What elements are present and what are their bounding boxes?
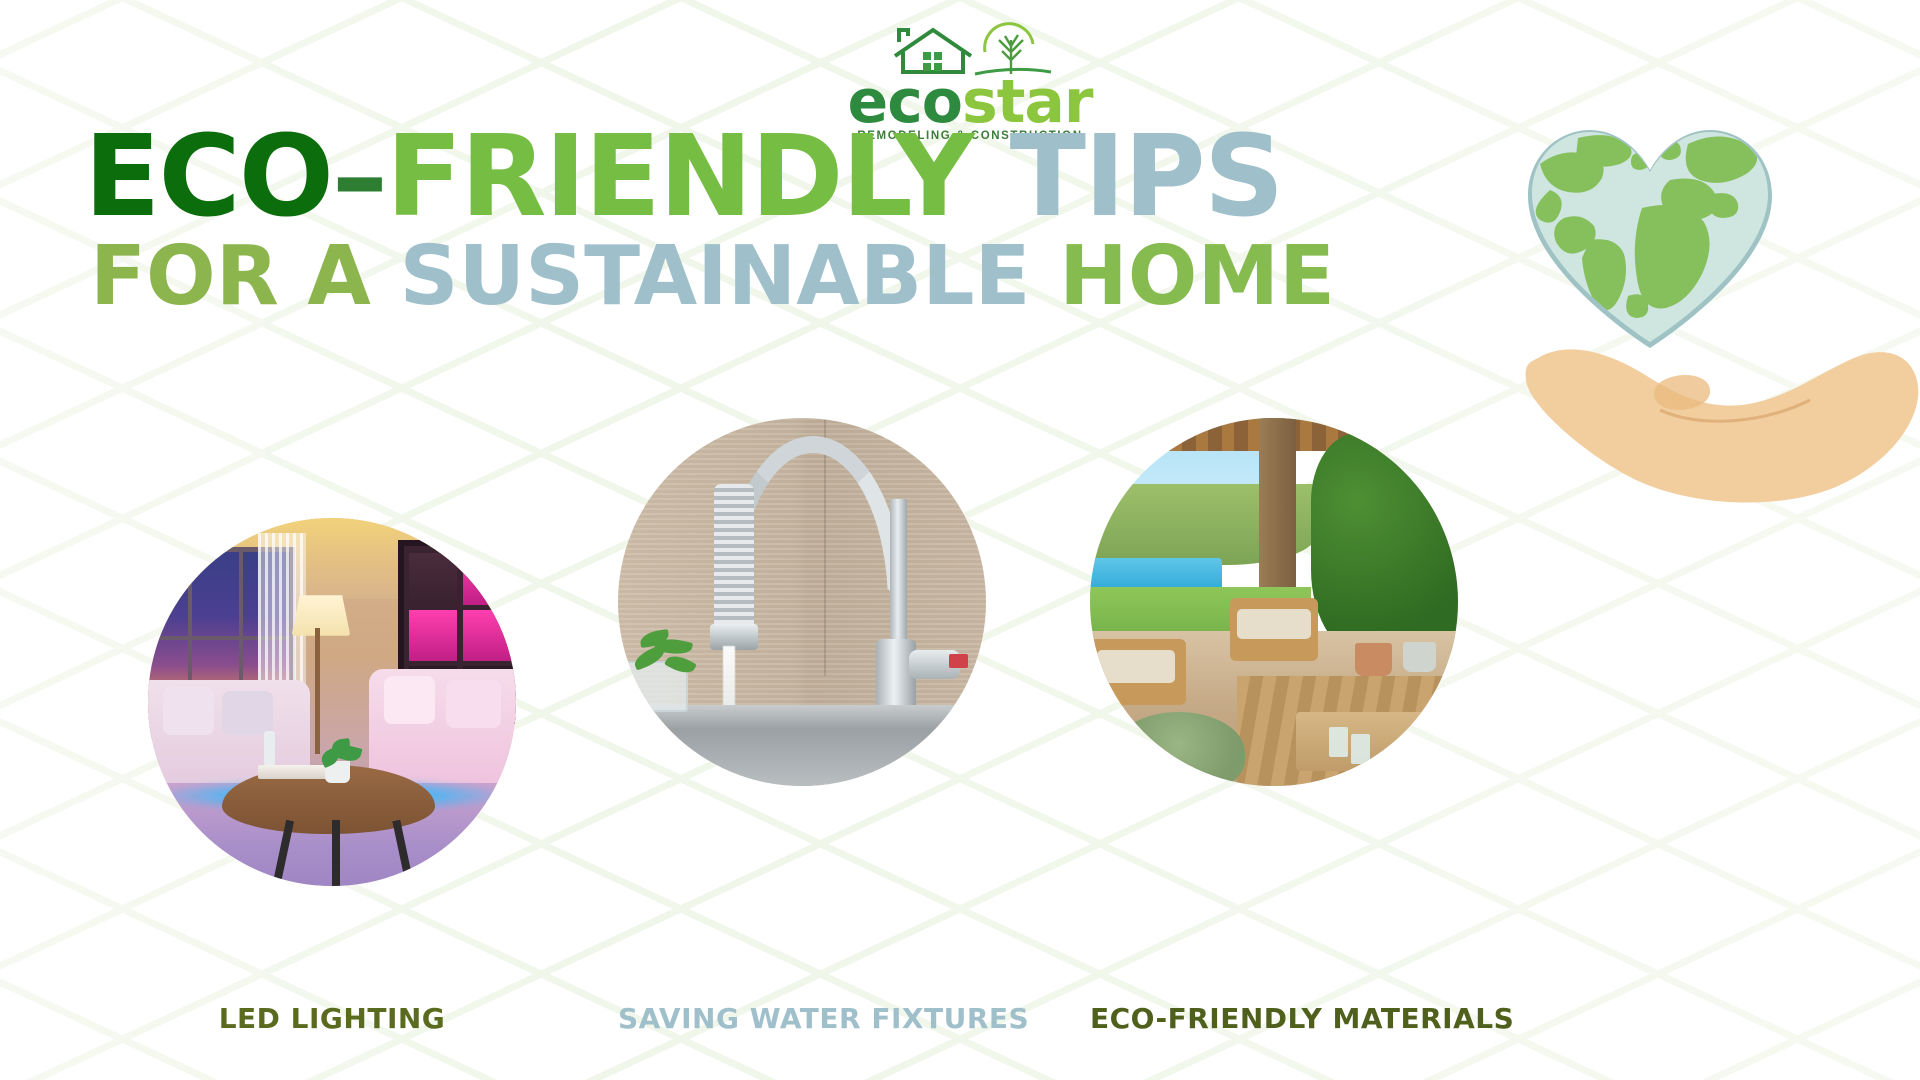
card-image-eco-friendly-materials[interactable] bbox=[1090, 418, 1458, 786]
scene-patio bbox=[1090, 418, 1458, 786]
headline-word-tips: TIPS bbox=[1010, 112, 1283, 242]
headline-line-2: FOR A SUSTAINABLE HOME bbox=[84, 239, 1314, 314]
headline-word-eco: ECO bbox=[84, 112, 332, 242]
headline-word-friendly: FRIENDLY bbox=[386, 112, 973, 242]
caption-saving-water-fixtures: SAVING WATER FIXTURES bbox=[618, 1002, 986, 1035]
headline-word-sustainable: SUSTAINABLE bbox=[399, 229, 1030, 324]
logo-mark bbox=[875, 22, 1065, 82]
caption-led-lighting: LED LIGHTING bbox=[148, 1002, 516, 1035]
page-title: ECO–FRIENDLY TIPS FOR A SUSTAINABLE HOME bbox=[84, 126, 1314, 314]
headline-dash: – bbox=[332, 112, 386, 242]
card-image-led-lighting[interactable] bbox=[148, 518, 516, 886]
open-hand-icon bbox=[1510, 300, 1920, 510]
scene-living-room bbox=[148, 518, 516, 886]
headline-word-home: HOME bbox=[1059, 229, 1335, 324]
scene-faucet bbox=[618, 418, 986, 786]
headline-line-1: ECO–FRIENDLY TIPS bbox=[84, 126, 1314, 229]
hero-graphic bbox=[1510, 120, 1920, 520]
card-image-saving-water-fixtures[interactable] bbox=[618, 418, 986, 786]
headline-word-for-a: FOR A bbox=[90, 229, 371, 324]
caption-eco-friendly-materials: ECO-FRIENDLY MATERIALS bbox=[1090, 1002, 1458, 1035]
house-and-tree-icon bbox=[875, 22, 1065, 82]
banner-stage: ecostar REMODELING & CONSTRUCTION ECO–FR… bbox=[0, 0, 1920, 1080]
